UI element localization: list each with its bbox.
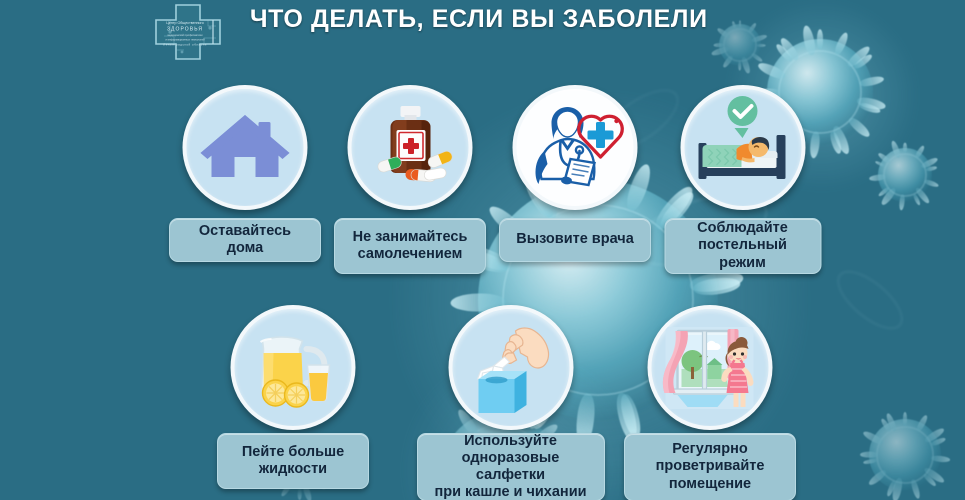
poster-header: Центр Общественного ЗДОРОВЬЯ медицинской…	[0, 0, 965, 62]
icon-circle	[231, 305, 356, 430]
medical-cross-logo: Центр Общественного ЗДОРОВЬЯ медицинской…	[152, 2, 224, 62]
label-line: Используйте	[428, 433, 594, 450]
virus-particle	[871, 141, 939, 209]
medicine-bottle-pills-icon	[352, 89, 469, 206]
tile-label: Не занимайтесь самолечением	[334, 218, 486, 274]
doctor-heart-cross-icon	[517, 89, 634, 206]
infographic-poster: Центр Общественного ЗДОРОВЬЯ медицинской…	[0, 0, 965, 500]
lemonade-pitcher-icon	[235, 309, 352, 426]
icon-circle	[680, 85, 805, 210]
label-line: Вызовите врача	[516, 231, 634, 248]
logo-line-1: Центр Общественного	[166, 21, 204, 25]
label-line: самолечением	[353, 246, 468, 263]
person-in-bed-checkmark-icon	[684, 89, 801, 206]
icon-circle	[648, 305, 773, 430]
label-line: помещение	[656, 476, 765, 493]
icon-circle	[448, 305, 573, 430]
house-icon	[187, 89, 304, 206]
label-line: Оставайтесь дома	[180, 223, 310, 257]
logo-line-5: Ленинградской области	[163, 43, 207, 47]
virus-wisp	[828, 260, 912, 339]
logo-line-2: ЗДОРОВЬЯ	[167, 27, 203, 33]
tile-label: Пейте больше жидкости	[217, 433, 369, 489]
virus-particle	[860, 410, 950, 500]
label-line: Соблюдайте	[675, 220, 810, 237]
logo-line-3: медицинской профилактики	[167, 33, 203, 37]
label-line: жидкости	[242, 461, 344, 478]
page-title: ЧТО ДЕЛАТЬ, ЕСЛИ ВЫ ЗАБОЛЕЛИ	[250, 5, 700, 34]
icon-circle	[348, 85, 473, 210]
hand-tissue-box-icon	[452, 309, 569, 426]
icon-circle	[183, 85, 308, 210]
label-line: одноразовые салфетки	[428, 450, 594, 484]
tile-label: Соблюдайте постельный режим	[664, 218, 821, 274]
tile-label: Оставайтесь дома	[169, 218, 321, 262]
label-line: проветривайте	[656, 458, 765, 475]
logo-line-4: и информационных технологий	[165, 38, 205, 42]
tile-label: Регулярно проветривайте помещение	[624, 433, 796, 500]
label-line: Регулярно	[656, 441, 765, 458]
open-window-girl-icon	[652, 309, 769, 426]
label-line: постельный режим	[675, 237, 810, 271]
label-line: Не занимайтесь	[353, 229, 468, 246]
tile-label: Вызовите врача	[499, 218, 651, 262]
icon-circle	[513, 85, 638, 210]
label-line: при кашле и чихании	[428, 484, 594, 500]
tile-label: Используйте одноразовые салфетки при каш…	[417, 433, 605, 500]
label-line: Пейте больше	[242, 444, 344, 461]
